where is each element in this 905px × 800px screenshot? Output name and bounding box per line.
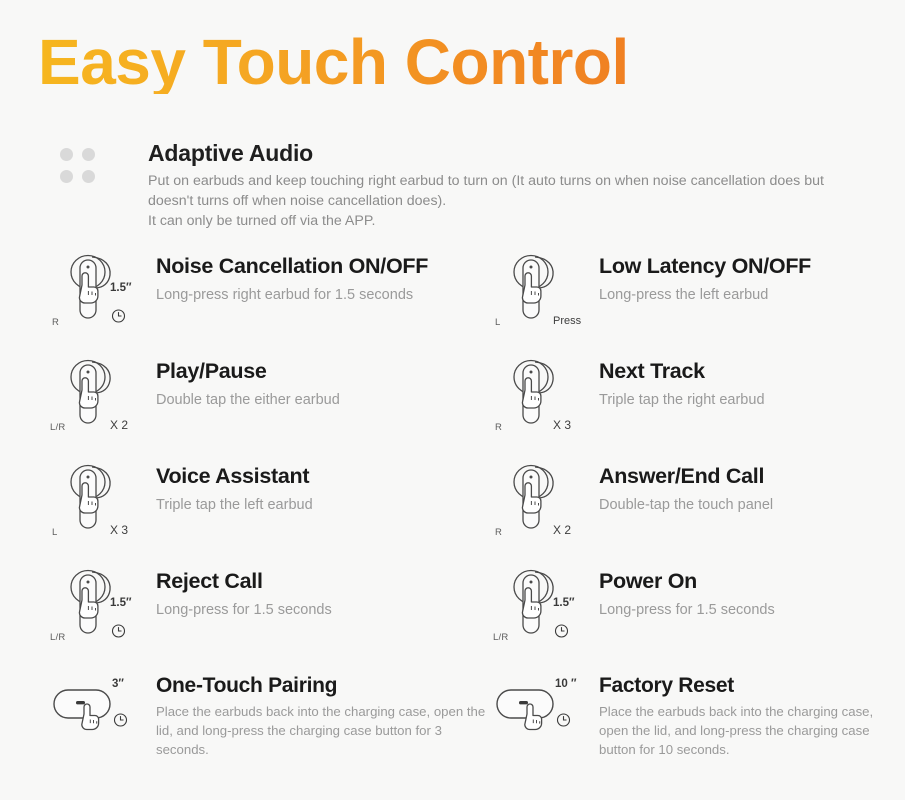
earbud-touch-icon: R X 3: [495, 357, 593, 435]
earbud-touch-icon: L/R X 2: [52, 357, 150, 435]
control-item-noise-cancellation: R 1.5″ Noise Cancellation ON/OFF Long-: [0, 252, 487, 357]
control-item-low-latency: L Press Low Latency ON/OFF Long-press th…: [487, 252, 905, 357]
gesture-meta: 1.5″: [108, 591, 160, 645]
dot: [60, 170, 73, 183]
control-description: Triple tap the right earbud: [599, 391, 765, 411]
page-title: Easy Touch Control: [38, 30, 629, 94]
earbud-side-label: L/R: [493, 632, 508, 643]
duration-label: 3″: [112, 678, 124, 690]
control-text: Next Track Triple tap the right earbud: [599, 357, 765, 410]
earbud-touch-icon: L/R 1.5″: [495, 567, 593, 645]
clock-icon: [556, 712, 571, 732]
control-title: Noise Cancellation ON/OFF: [156, 254, 428, 279]
adaptive-audio-section: Adaptive Audio Put on earbuds and keep t…: [40, 140, 870, 231]
dot: [82, 170, 95, 183]
gesture-meta: 10 ″: [553, 680, 605, 734]
press-label: Press: [553, 315, 581, 327]
control-item-power-on: L/R 1.5″ Power On Long-press for 1.5 s: [487, 567, 905, 672]
adaptive-audio-title: Adaptive Audio: [148, 140, 870, 167]
control-item-reject-call: L/R 1.5″ Reject Call Long-press for 1.: [0, 567, 487, 672]
clock-icon: [113, 712, 128, 732]
control-text: Voice Assistant Triple tap the left earb…: [156, 462, 313, 515]
control-title: Answer/End Call: [599, 464, 773, 489]
duration-label: 1.5″: [110, 597, 132, 609]
adaptive-audio-description: Put on earbuds and keep touching right e…: [148, 171, 838, 231]
tap-count-label: X 3: [110, 523, 128, 537]
clock-icon: [111, 623, 126, 643]
control-description: Place the earbuds back into the charging…: [156, 703, 486, 759]
earbud-touch-icon: R 1.5″: [52, 252, 150, 330]
control-description: Long-press for 1.5 seconds: [599, 601, 775, 621]
control-item-answer-end-call: R X 2 Answer/End Call Double-tap the tou…: [487, 462, 905, 567]
clock-icon: [554, 623, 569, 643]
control-item-play-pause: L/R X 2 Play/Pause Double tap the either…: [0, 357, 487, 462]
control-description: Triple tap the left earbud: [156, 496, 313, 516]
control-description: Long-press right earbud for 1.5 seconds: [156, 286, 428, 306]
gesture-meta: 3″: [110, 680, 162, 734]
charging-case-touch-icon: 10 ″: [495, 672, 593, 738]
duration-label: 10 ″: [555, 678, 577, 690]
control-description: Double-tap the touch panel: [599, 496, 773, 516]
earbud-touch-icon: L Press: [495, 252, 593, 330]
control-title: Next Track: [599, 359, 765, 384]
gesture-meta: 1.5″: [551, 591, 603, 645]
control-text: Play/Pause Double tap the either earbud: [156, 357, 340, 410]
tap-count-label: X 2: [110, 418, 128, 432]
control-title: Voice Assistant: [156, 464, 313, 489]
control-row: L X 3 Voice Assistant Triple tap the lef…: [0, 462, 905, 567]
control-row: 3″ One-Touch Pairing Place the earbuds b…: [0, 672, 905, 792]
control-item-next-track: R X 3 Next Track Triple tap the right ea…: [487, 357, 905, 462]
control-description: Long-press for 1.5 seconds: [156, 601, 332, 621]
earbud-side-label: L/R: [50, 422, 65, 433]
gesture-meta: X 3: [551, 381, 603, 435]
earbud-side-label: R: [495, 527, 502, 538]
easy-touch-control-page: Easy Touch Control Adaptive Audio Put on…: [0, 0, 905, 800]
charging-case-touch-icon: 3″: [52, 672, 150, 738]
control-text: Power On Long-press for 1.5 seconds: [599, 567, 775, 620]
control-row: L/R 1.5″ Reject Call Long-press for 1.: [0, 567, 905, 672]
four-dots-icon: [60, 140, 120, 192]
control-description: Double tap the either earbud: [156, 391, 340, 411]
gesture-meta: 1.5″: [108, 276, 160, 330]
gesture-meta: X 3: [108, 486, 160, 540]
control-grid: R 1.5″ Noise Cancellation ON/OFF Long-: [0, 252, 905, 792]
control-title: Power On: [599, 569, 775, 594]
tap-count-label: X 2: [553, 523, 571, 537]
tap-count-label: X 3: [553, 418, 571, 432]
earbud-side-label: R: [495, 422, 502, 433]
control-description: Place the earbuds back into the charging…: [599, 703, 889, 759]
control-item-one-touch-pairing: 3″ One-Touch Pairing Place the earbuds b…: [0, 672, 487, 792]
control-description: Long-press the left earbud: [599, 286, 811, 306]
control-title: Play/Pause: [156, 359, 340, 384]
control-text: Reject Call Long-press for 1.5 seconds: [156, 567, 332, 620]
earbud-touch-icon: L/R 1.5″: [52, 567, 150, 645]
control-title: Reject Call: [156, 569, 332, 594]
clock-icon: [111, 308, 126, 328]
control-title: One-Touch Pairing: [156, 674, 486, 698]
earbud-side-label: L: [52, 527, 57, 538]
control-item-factory-reset: 10 ″ Factory Reset Place the earbuds bac…: [487, 672, 905, 792]
earbud-side-label: R: [52, 317, 59, 328]
dot: [82, 148, 95, 161]
earbud-touch-icon: L X 3: [52, 462, 150, 540]
control-row: L/R X 2 Play/Pause Double tap the either…: [0, 357, 905, 462]
control-text: Answer/End Call Double-tap the touch pan…: [599, 462, 773, 515]
gesture-meta: Press: [551, 276, 603, 330]
control-text: Low Latency ON/OFF Long-press the left e…: [599, 252, 811, 305]
control-text: One-Touch Pairing Place the earbuds back…: [156, 672, 486, 759]
duration-label: 1.5″: [110, 282, 132, 294]
control-title: Factory Reset: [599, 674, 889, 698]
earbud-side-label: L/R: [50, 632, 65, 643]
gesture-meta: X 2: [551, 486, 603, 540]
dot: [60, 148, 73, 161]
control-item-voice-assistant: L X 3 Voice Assistant Triple tap the lef…: [0, 462, 487, 567]
earbud-touch-icon: R X 2: [495, 462, 593, 540]
control-text: Noise Cancellation ON/OFF Long-press rig…: [156, 252, 428, 305]
duration-label: 1.5″: [553, 597, 575, 609]
adaptive-audio-text: Adaptive Audio Put on earbuds and keep t…: [148, 140, 870, 231]
control-title: Low Latency ON/OFF: [599, 254, 811, 279]
gesture-meta: X 2: [108, 381, 160, 435]
control-row: R 1.5″ Noise Cancellation ON/OFF Long-: [0, 252, 905, 357]
control-text: Factory Reset Place the earbuds back int…: [599, 672, 889, 759]
earbud-side-label: L: [495, 317, 500, 328]
